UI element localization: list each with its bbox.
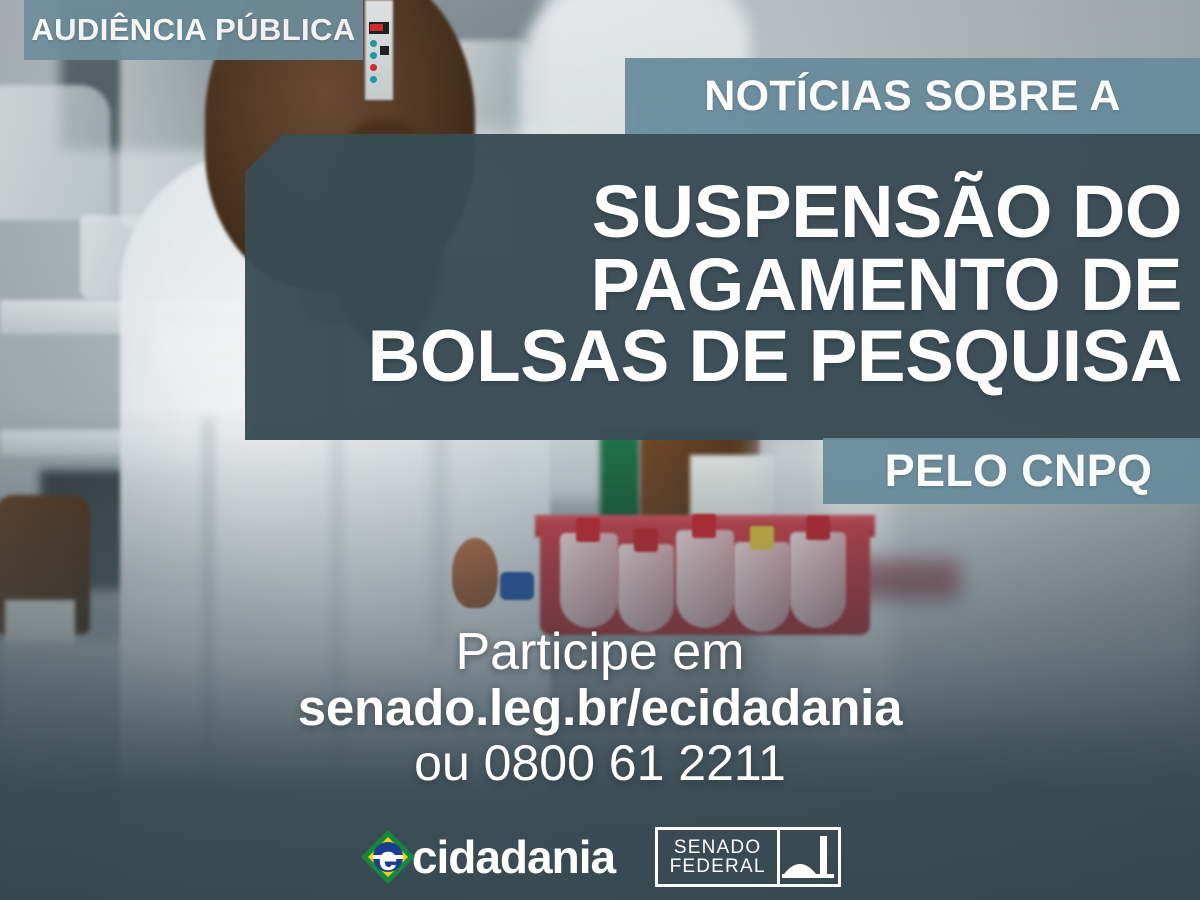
subheadline-label: PELO CNPQ (885, 445, 1153, 497)
cta-line-phone: ou 0800 61 2211 (0, 736, 1200, 790)
ecidadania-flag-icon: e (359, 828, 417, 886)
badge-label: AUDIÊNCIA PÚBLICA (31, 12, 355, 48)
headline-line-1: SUSPENSÃO DO (592, 175, 1182, 248)
logo-row: e cidadania SENADO FEDERAL (0, 827, 1200, 887)
kicker-label: NOTÍCIAS SOBRE A (704, 72, 1121, 121)
senado-wordmark: SENADO FEDERAL (658, 830, 780, 884)
headline-line-2: PAGAMENTO DE (590, 248, 1182, 321)
cta-line-url: senado.leg.br/ecidadania (0, 679, 1200, 736)
senado-line-2: FEDERAL (670, 857, 766, 876)
logo-ecidadania: e cidadania (359, 828, 615, 886)
logo-senado-federal: SENADO FEDERAL (655, 827, 841, 887)
ecidadania-wordmark: cidadania (412, 834, 615, 880)
senado-congress-icon (780, 830, 838, 884)
svg-text:e: e (378, 840, 397, 878)
headline-line-3: BOLSAS DE PESQUISA (368, 321, 1182, 393)
kicker-band: NOTÍCIAS SOBRE A (625, 58, 1200, 134)
poster-campaign-banner: AUDIÊNCIA PÚBLICA NOTÍCIAS SOBRE A SUSPE… (0, 0, 1200, 900)
subheadline-band: PELO CNPQ (823, 438, 1200, 504)
call-to-action: Participe em senado.leg.br/ecidadania ou… (0, 625, 1200, 790)
senado-line-1: SENADO (674, 838, 761, 857)
badge-audiencia-publica: AUDIÊNCIA PÚBLICA (24, 0, 363, 60)
cta-line-participe: Participe em (0, 625, 1200, 679)
headline-block: SUSPENSÃO DO PAGAMENTO DE BOLSAS DE PESQ… (245, 134, 1200, 440)
